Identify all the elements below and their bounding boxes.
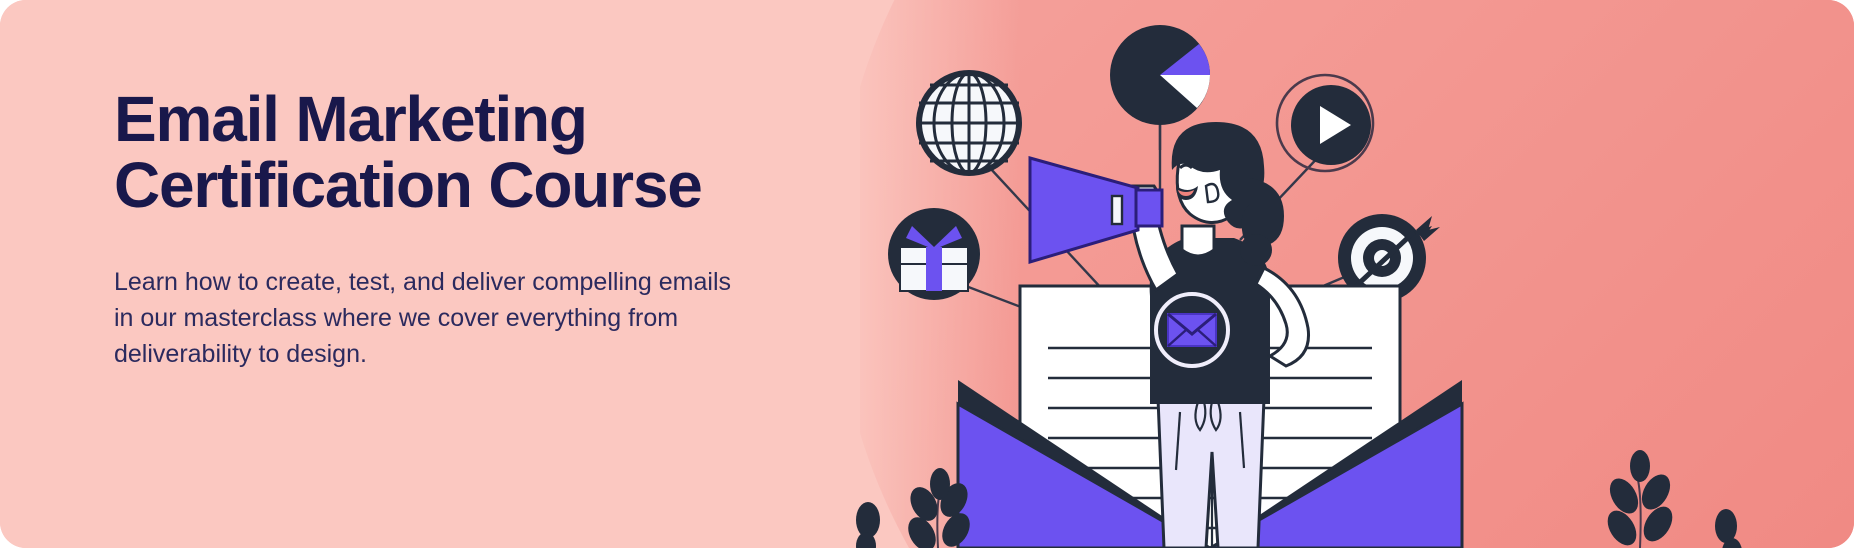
play-button-icon [1277,75,1373,171]
email-marketing-illustration [820,0,1854,548]
copy-block: Email Marketing Certification Course Lea… [114,86,814,372]
gift-icon [888,208,980,300]
page-title: Email Marketing Certification Course [114,86,814,218]
globe-icon [919,73,1019,173]
hero-banner: Email Marketing Certification Course Lea… [0,0,1854,548]
page-subtitle: Learn how to create, test, and deliver c… [114,218,754,372]
